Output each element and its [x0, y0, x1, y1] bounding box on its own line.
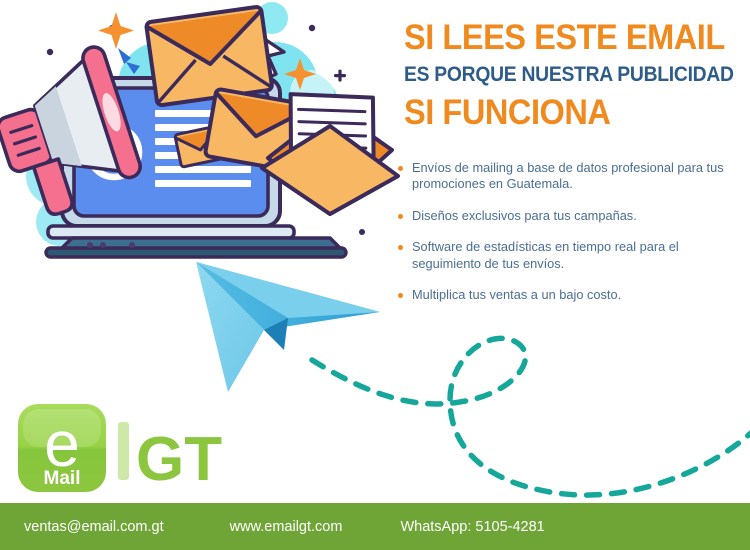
list-item: Envíos de mailing a base de datos profes… — [396, 160, 748, 193]
footer-email[interactable]: ventas@email.com.gt — [24, 519, 164, 535]
list-item-text: Envíos de mailing a base de datos profes… — [412, 160, 724, 191]
logo-suffix: GT — [136, 425, 222, 494]
dashed-trail — [300, 320, 750, 520]
list-item-text: Diseños exclusivos para tus campañas. — [412, 208, 637, 223]
list-item: Multiplica tus ventas a un bajo costo. — [396, 287, 748, 303]
footer-whatsapp[interactable]: WhatsApp: 5105-4281 — [400, 519, 544, 535]
footer-website[interactable]: www.emailgt.com — [230, 519, 343, 535]
emailgt-logo: e Mail GT — [14, 400, 234, 496]
list-item-text: Multiplica tus ventas a un bajo costo. — [412, 287, 621, 302]
marketing-banner: SI LEES ESTE EMAIL ES PORQUE NUESTRA PUB… — [0, 0, 750, 550]
bullet-dot-icon — [398, 293, 403, 298]
bullet-dot-icon — [398, 166, 403, 171]
list-item: Software de estadísticas en tiempo real … — [396, 239, 748, 272]
headline-line-2: ES PORQUE NUESTRA PUBLICIDAD — [404, 64, 717, 85]
list-item: Diseños exclusivos para tus campañas. — [396, 208, 748, 224]
logo-separator — [118, 422, 129, 480]
headline-line-3: SI FUNCIONA — [404, 95, 720, 130]
headline-block: SI LEES ESTE EMAIL ES PORQUE NUESTRA PUB… — [404, 20, 744, 130]
benefits-list: Envíos de mailing a base de datos profes… — [396, 160, 748, 303]
bullet-dot-icon — [398, 214, 403, 219]
headline-line-1: SI LEES ESTE EMAIL — [404, 20, 720, 55]
bullet-dot-icon — [398, 245, 403, 250]
footer-contact-bar: ventas@email.com.gt www.emailgt.com What… — [0, 503, 750, 550]
logo-mark-word: Mail — [44, 468, 81, 489]
envelope-top-icon — [146, 6, 273, 105]
list-item-text: Software de estadísticas en tiempo real … — [412, 239, 679, 270]
